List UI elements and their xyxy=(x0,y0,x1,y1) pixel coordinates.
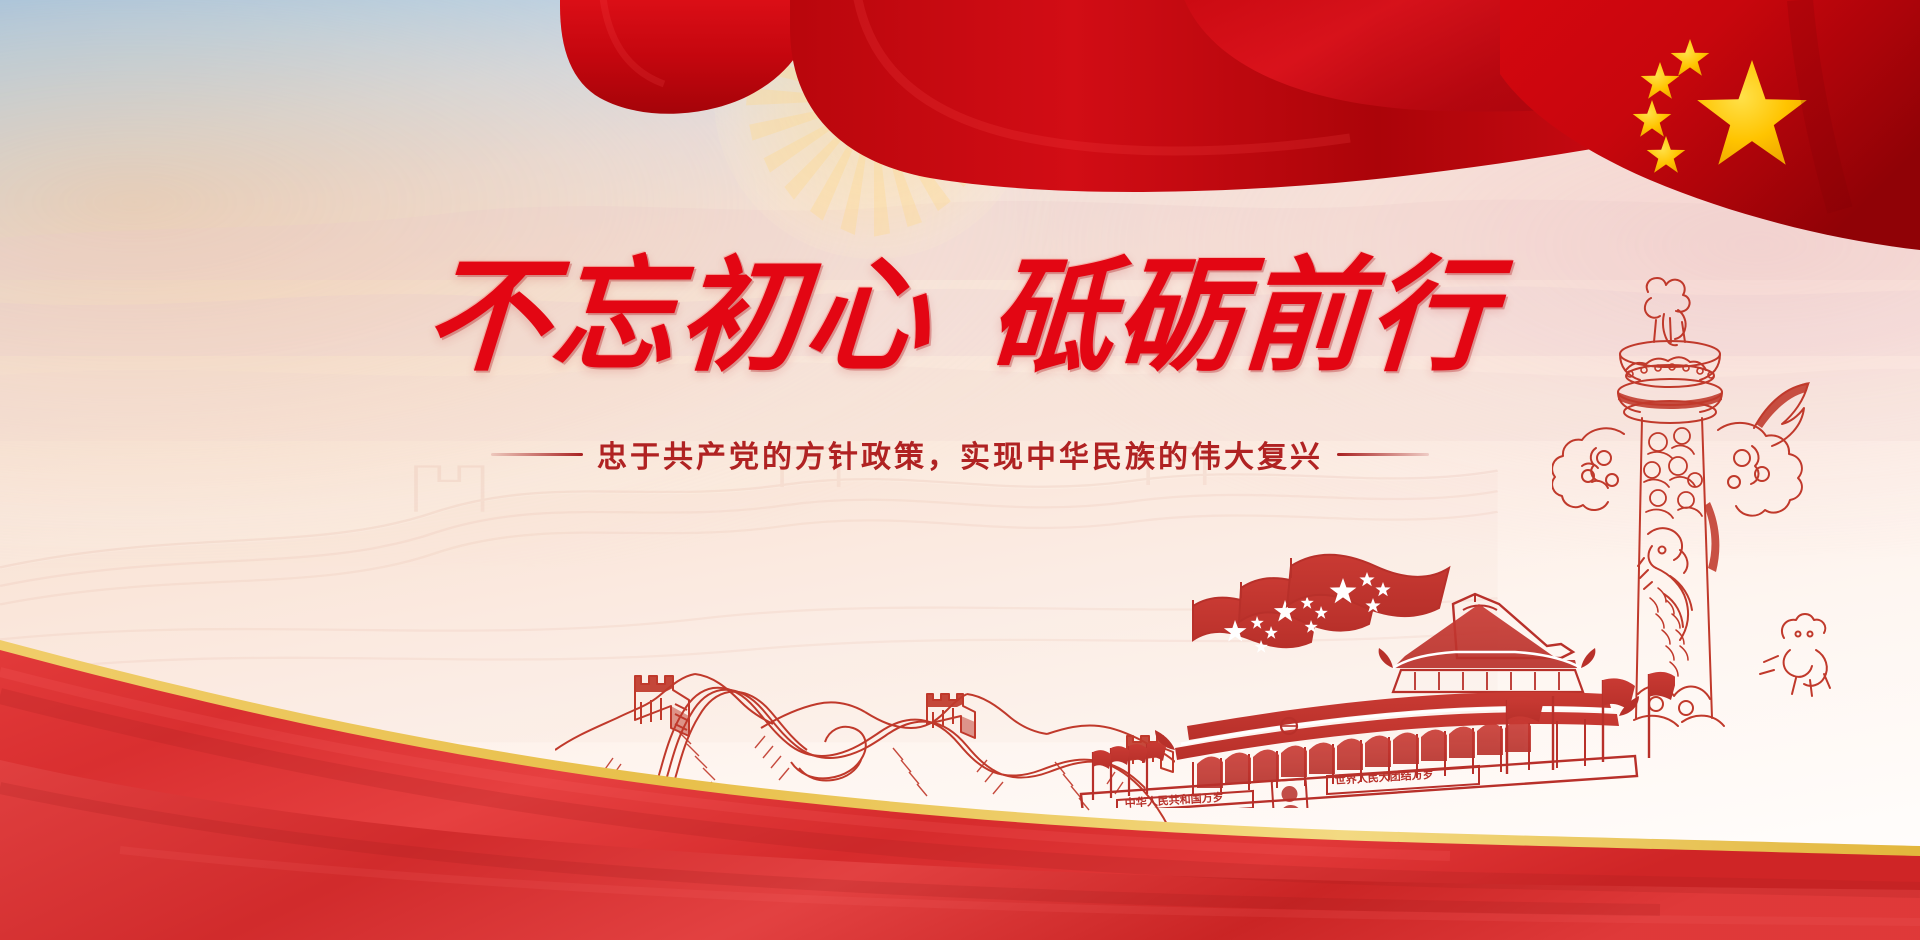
page-title: 不忘初心砥砺前行 xyxy=(0,256,1920,380)
subtitle-rule-right xyxy=(1337,453,1429,456)
china-flag xyxy=(1500,0,1920,250)
title-block: 不忘初心砥砺前行 忠于共产党的方针政策，实现中华民族的伟大复兴 xyxy=(0,256,1920,476)
red-silk-ribbon-icon xyxy=(0,610,1920,940)
poster-canvas: 不忘初心砥砺前行 忠于共产党的方针政策，实现中华民族的伟大复兴 xyxy=(0,0,1920,940)
china-flag-icon xyxy=(1500,0,1920,250)
subtitle-row: 忠于共产党的方针政策，实现中华民族的伟大复兴 xyxy=(0,432,1920,476)
subtitle-text: 忠于共产党的方针政策，实现中华民族的伟大复兴 xyxy=(597,432,1323,476)
bottom-red-ribbon xyxy=(0,610,1920,940)
subtitle-rule-left xyxy=(491,453,583,456)
title-part-2: 砥砺前行 xyxy=(985,249,1499,386)
title-part-1: 不忘初心 xyxy=(421,249,935,386)
